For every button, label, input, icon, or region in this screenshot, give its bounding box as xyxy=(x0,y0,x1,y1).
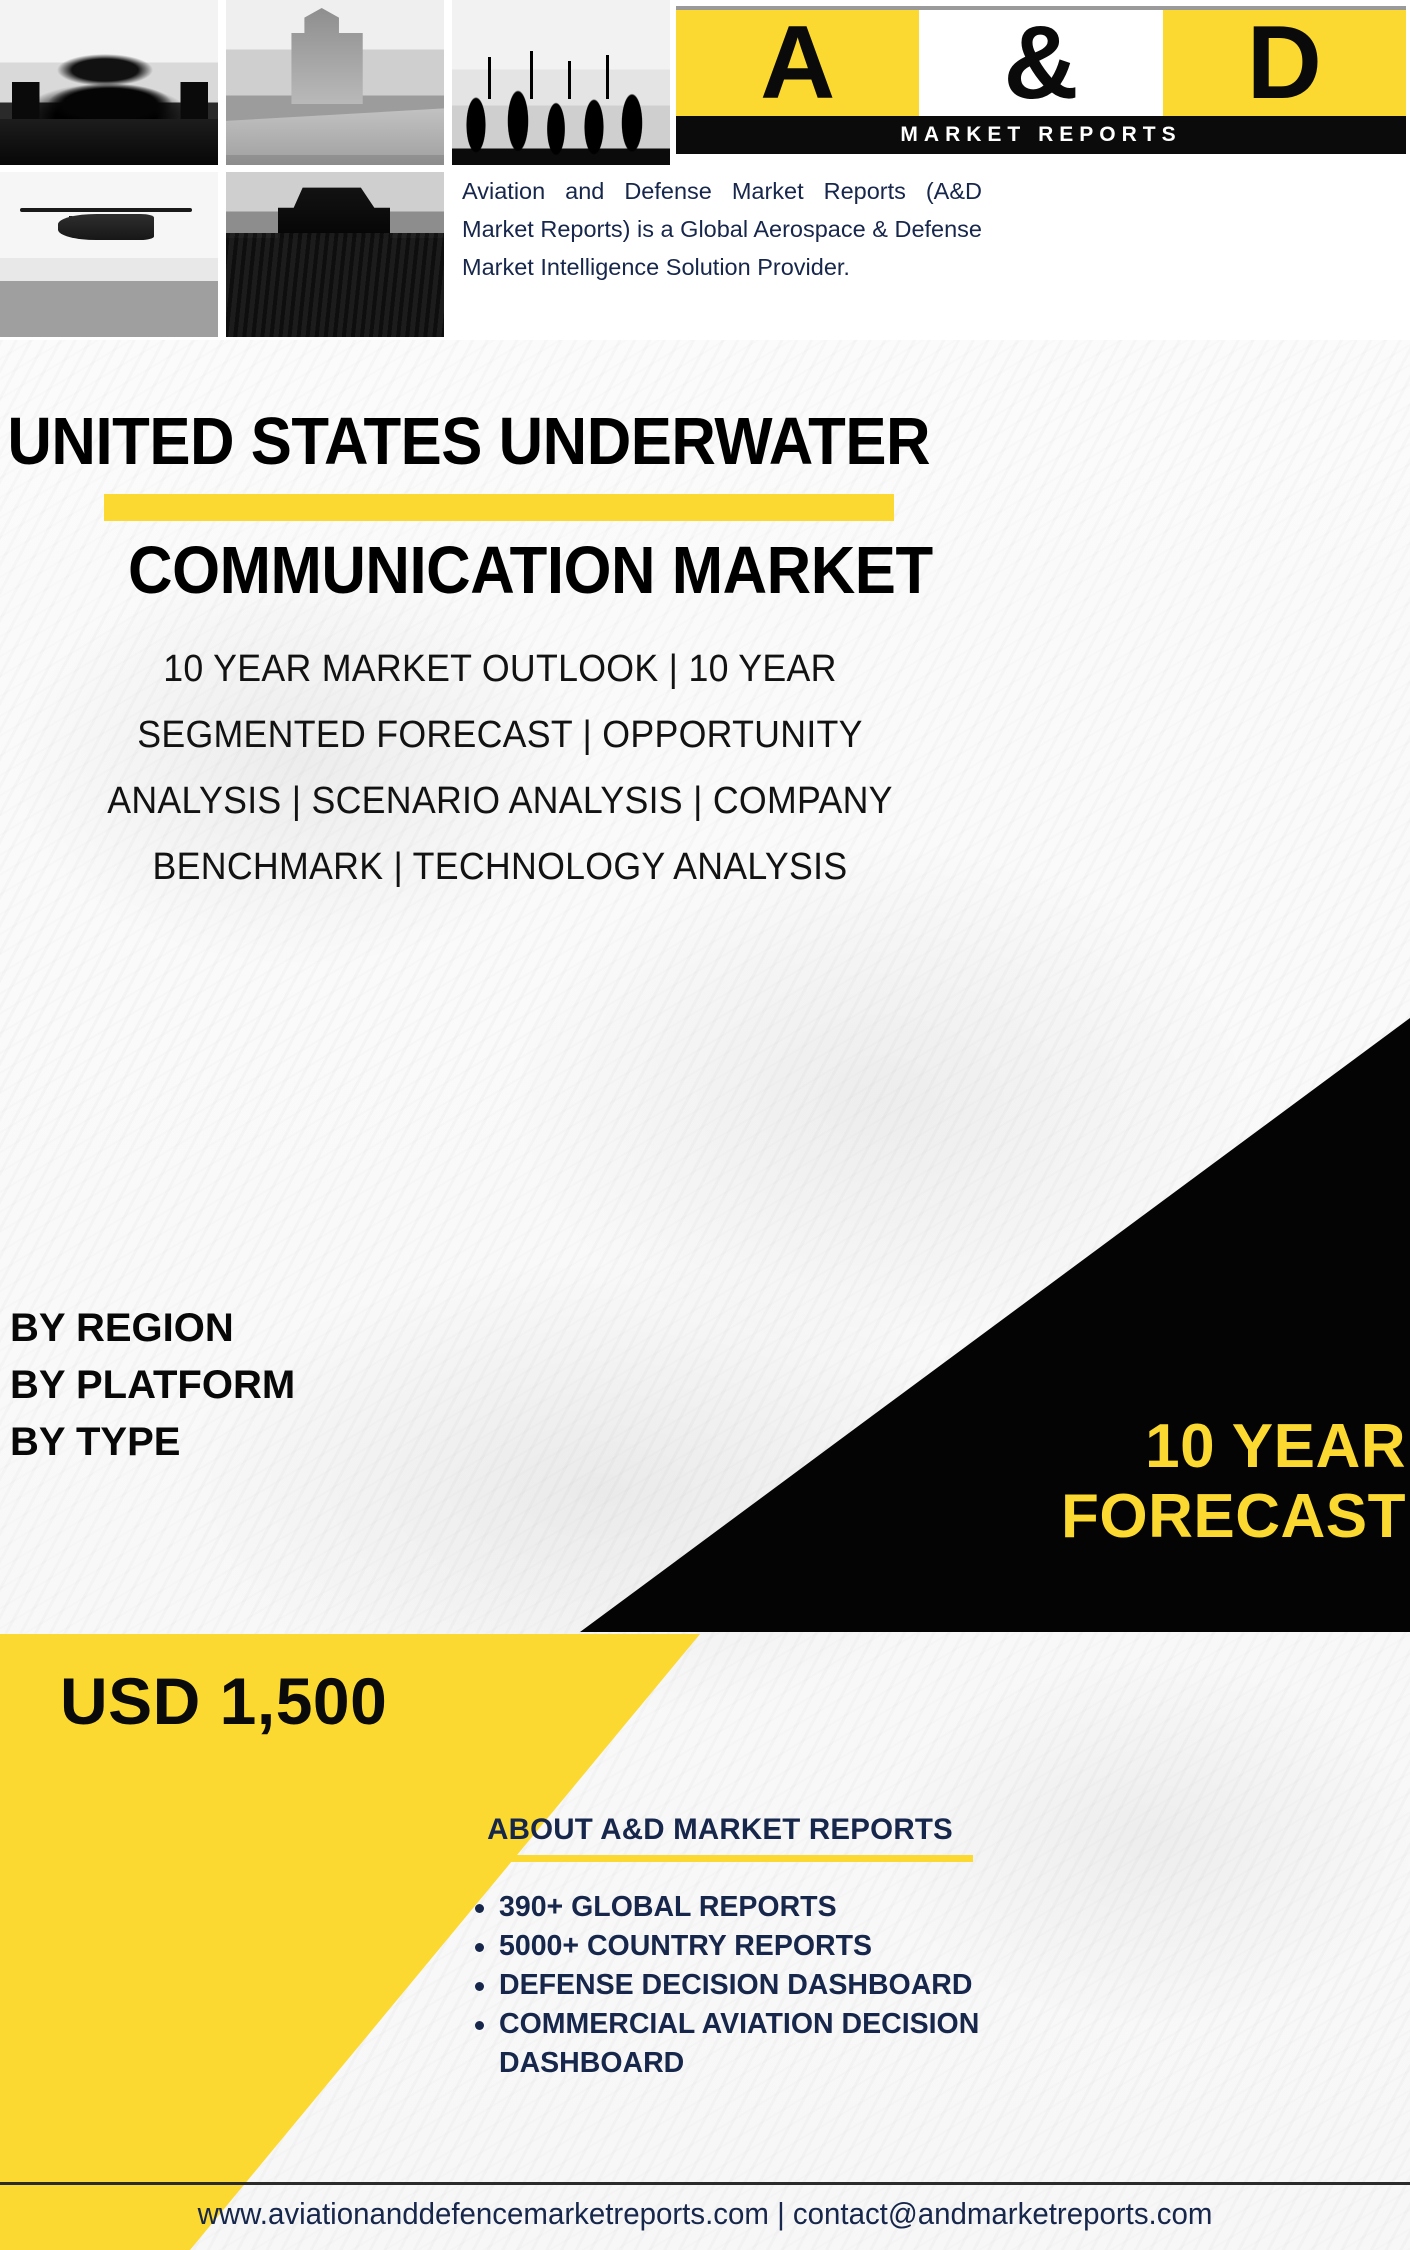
header-strip: A & D MARKET REPORTS Aviation and Defens… xyxy=(0,0,1410,340)
about-bullet-global-reports: 390+ GLOBAL REPORTS xyxy=(455,1888,985,1927)
logo-letter-tiles: A & D xyxy=(676,10,1406,116)
logo-letter-ampersand: & xyxy=(919,10,1162,116)
logo-letter-d: D xyxy=(1163,10,1406,116)
forecast-badge: 10 YEAR FORECAST xyxy=(846,1412,1406,1552)
segmentation-list: BY REGION BY PLATFORM BY TYPE xyxy=(10,1300,295,1471)
forecast-badge-line-1: 10 YEAR xyxy=(846,1412,1406,1482)
segmentation-item-type: BY TYPE xyxy=(10,1414,295,1471)
about-accent-rule xyxy=(457,1855,973,1862)
about-section: ABOUT A&D MARKET REPORTS 390+ GLOBAL REP… xyxy=(455,1812,985,2083)
report-title-line-2: COMMUNICATION MARKET xyxy=(40,533,960,609)
intro-paragraph: Aviation and Defense Market Reports (A&D… xyxy=(462,172,982,286)
logo-subtitle-text: MARKET REPORTS xyxy=(900,123,1181,147)
photo-armored-vehicle-on-terrain xyxy=(226,172,444,337)
report-title: UNITED STATES UNDERWATER COMMUNICATION M… xyxy=(0,404,1000,609)
about-heading: ABOUT A&D MARKET REPORTS xyxy=(455,1812,985,1848)
photo-aircraft-carrier-superstructure xyxy=(226,0,444,165)
segmentation-item-region: BY REGION xyxy=(10,1300,295,1357)
logo-letter-a: A xyxy=(676,10,919,116)
price-value: USD 1,500 xyxy=(60,1663,387,1739)
report-subtitle: 10 YEAR MARKET OUTLOOK | 10 YEAR SEGMENT… xyxy=(51,636,950,900)
footer-contact: www.aviationanddefencemarketreports.com … xyxy=(35,2192,1375,2236)
segmentation-item-platform: BY PLATFORM xyxy=(10,1357,295,1414)
about-bullet-list: 390+ GLOBAL REPORTS 5000+ COUNTRY REPORT… xyxy=(455,1888,985,2083)
footer-divider xyxy=(0,2182,1410,2185)
report-title-line-1: UNITED STATES UNDERWATER xyxy=(0,404,920,480)
forecast-badge-line-2: FORECAST xyxy=(846,1482,1406,1552)
about-bullet-country-reports: 5000+ COUNTRY REPORTS xyxy=(455,1927,985,1966)
logo-subtitle-bar: MARKET REPORTS xyxy=(676,116,1406,154)
brand-logo: A & D MARKET REPORTS xyxy=(676,2,1406,154)
photo-helicopter-over-field xyxy=(0,172,218,337)
photo-fighter-jet-on-carrier-deck xyxy=(0,0,218,165)
about-bullet-commercial-aviation-dashboard: COMMERCIAL AVIATION DECISION DASHBOARD xyxy=(455,2005,985,2083)
title-accent-rule xyxy=(104,494,894,521)
about-bullet-defense-dashboard: DEFENSE DECISION DASHBOARD xyxy=(455,1966,985,2005)
photo-soldier-silhouettes-at-dusk xyxy=(452,0,670,165)
